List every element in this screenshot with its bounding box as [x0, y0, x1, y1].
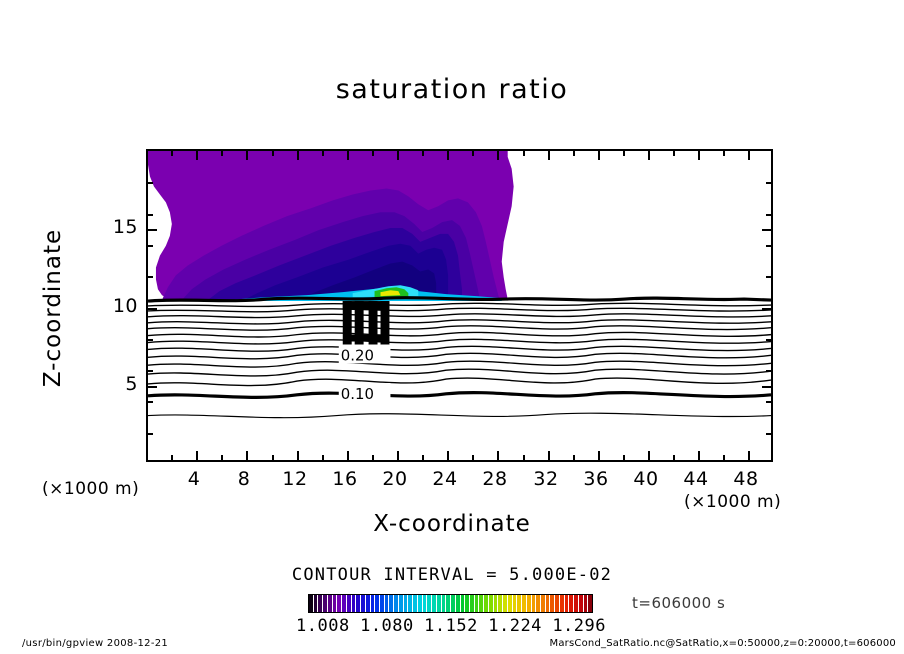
footer-dataset-label: MarsCond_SatRatio.nc@SatRatio,x=0:50000,… [550, 638, 896, 649]
x-tick-top-34 [573, 151, 575, 156]
y-tick-5 [148, 386, 157, 388]
line-contours [148, 298, 771, 418]
gpview-plot-window: saturation ratio [0, 0, 904, 654]
x-tick-top-22 [422, 151, 424, 156]
x-tick-top-4 [196, 151, 198, 160]
x-tick-4 [196, 451, 198, 460]
plot-area: 0.10 0.20 [146, 149, 773, 462]
x-tick-30 [523, 455, 525, 460]
x-tick-40 [648, 451, 650, 460]
colorbar-tick-labels: 1.008 1.080 1.152 1.224 1.296 [296, 616, 606, 636]
x-axis-unit-label: (×1000 m) [684, 492, 781, 512]
footer-command-label: /usr/bin/gpview 2008-12-21 [22, 638, 168, 649]
x-tick-top-24 [447, 151, 449, 160]
x-tick-42 [673, 455, 675, 460]
x-tick-38 [623, 455, 625, 460]
y-tick-10 [148, 308, 157, 310]
x-tick-top-42 [673, 151, 675, 156]
x-tick-top-36 [598, 151, 600, 160]
x-axis-title: X-coordinate [0, 511, 904, 537]
x-tick-top-8 [246, 151, 248, 160]
x-tick-top-48 [748, 151, 750, 160]
x-tick-32 [548, 451, 550, 460]
time-label: t=606000 s [632, 594, 725, 612]
y-tick-4 [148, 401, 153, 403]
x-tick-top-20 [397, 151, 399, 160]
x-tick-top-14 [322, 151, 324, 156]
x-tick-14 [322, 455, 324, 460]
y-tick-8 [148, 339, 153, 341]
y-tick-right-10 [762, 308, 771, 310]
x-tick-6 [221, 455, 223, 460]
x-tick-top-32 [548, 151, 550, 160]
colorbar-tick-label-2: 1.152 [424, 616, 478, 636]
z-axis-unit-label: (×1000 m) [42, 479, 139, 499]
x-tick-22 [422, 455, 424, 460]
x-tick-top-28 [497, 151, 499, 160]
y-tick-label-10: 10 [88, 295, 138, 317]
colorbar-tick-label-1: 1.080 [360, 616, 414, 636]
x-tick-24 [447, 451, 449, 460]
y-tick-right-15 [762, 229, 771, 231]
contour-label-group: 0.10 0.20 [339, 301, 391, 403]
y-tick-label-15: 15 [88, 216, 138, 238]
contour-label-cluster [343, 301, 390, 344]
x-tick-26 [472, 455, 474, 460]
colorbar-tick-label-0: 1.008 [296, 616, 350, 636]
y-tick-6 [148, 370, 153, 372]
colorbar-tick-label-4: 1.296 [552, 616, 606, 636]
x-tick-36 [598, 451, 600, 460]
x-tick-top-38 [623, 151, 625, 156]
y-tick-12 [148, 276, 153, 278]
x-tick-8 [246, 451, 248, 460]
x-tick-top-46 [723, 151, 725, 156]
contour-interval-label: CONTOUR INTERVAL = 5.000E-02 [0, 565, 904, 585]
x-tick-46 [723, 455, 725, 460]
contour-label-010: 0.10 [341, 385, 374, 403]
y-tick-right-18 [766, 182, 771, 184]
x-tick-16 [347, 451, 349, 460]
y-tick-15 [148, 229, 157, 231]
y-tick-right-6 [766, 370, 771, 372]
x-tick-top-26 [472, 151, 474, 156]
x-tick-top-12 [297, 151, 299, 160]
x-tick-48 [748, 451, 750, 460]
x-tick-20 [397, 451, 399, 460]
x-tick-2 [171, 455, 173, 460]
colorbar-cell [588, 595, 592, 612]
x-tick-top-40 [648, 151, 650, 160]
x-tick-label-48: 48 [716, 468, 776, 490]
y-tick-right-2 [766, 433, 771, 435]
x-tick-top-6 [221, 151, 223, 156]
y-tick-14 [148, 245, 153, 247]
y-tick-right-12 [766, 276, 771, 278]
x-tick-top-18 [372, 151, 374, 156]
colorbar[interactable] [308, 594, 593, 613]
y-tick-label-5: 5 [88, 373, 138, 395]
x-tick-18 [372, 455, 374, 460]
contour-label-020: 0.20 [341, 346, 374, 364]
y-axis-title: Z-coordinate [40, 218, 66, 398]
y-tick-right-5 [762, 386, 771, 388]
x-tick-28 [497, 451, 499, 460]
x-tick-44 [698, 451, 700, 460]
y-tick-16 [148, 214, 153, 216]
x-tick-top-10 [272, 151, 274, 156]
x-tick-top-2 [171, 151, 173, 156]
x-tick-top-16 [347, 151, 349, 160]
page-title: saturation ratio [0, 74, 904, 105]
y-tick-2 [148, 433, 153, 435]
y-tick-right-4 [766, 401, 771, 403]
y-tick-18 [148, 182, 153, 184]
y-tick-right-16 [766, 214, 771, 216]
x-tick-12 [297, 451, 299, 460]
colorbar-tick-label-3: 1.224 [488, 616, 542, 636]
x-tick-34 [573, 455, 575, 460]
x-tick-10 [272, 455, 274, 460]
contour-canvas: 0.10 0.20 [148, 151, 771, 460]
x-tick-top-44 [698, 151, 700, 160]
x-tick-top-30 [523, 151, 525, 156]
y-tick-right-8 [766, 339, 771, 341]
y-tick-right-14 [766, 245, 771, 247]
